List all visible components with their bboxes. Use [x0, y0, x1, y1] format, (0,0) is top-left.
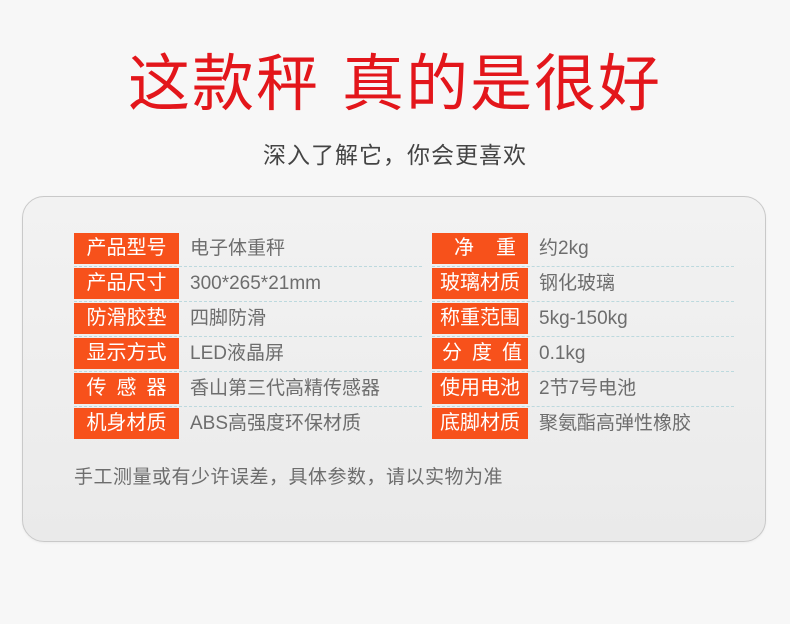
spec-label-net-weight: 净重 — [432, 233, 528, 264]
spec-value-body-material: ABS高强度环保材质 — [179, 408, 432, 439]
spec-label-body-material: 机身材质 — [74, 408, 179, 439]
title-phrase-1: 这款秤 — [128, 50, 320, 119]
spec-value-graduation: 0.1kg — [528, 338, 744, 369]
spec-label-sensor: 传感器 — [74, 373, 179, 404]
spec-label-antislip-pad: 防滑胶垫 — [74, 303, 179, 334]
spec-label-product-size: 产品尺寸 — [74, 268, 179, 299]
spec-label-graduation: 分度值 — [432, 338, 528, 369]
spec-value-foot-material: 聚氨酯高弹性橡胶 — [528, 408, 744, 439]
specification-column-right: 净重 约2kg 玻璃材质 钢化玻璃 称重范围 5kg-150kg 分度值 0.1… — [432, 233, 744, 443]
spec-value-glass-material: 钢化玻璃 — [528, 268, 744, 299]
spec-value-weighing-range: 5kg-150kg — [528, 303, 744, 334]
spec-label-product-model: 产品型号 — [74, 233, 179, 264]
page-title: 这款秤真的是很好 — [0, 54, 790, 116]
spec-value-battery: 2节7号电池 — [528, 373, 744, 404]
specification-table: 产品型号 电子体重秤 产品尺寸 300*265*21mm 防滑胶垫 四脚防滑 显… — [23, 197, 765, 443]
spec-value-net-weight: 约2kg — [528, 233, 744, 264]
table-row: 传感器 香山第三代高精传感器 — [74, 373, 432, 404]
table-row: 防滑胶垫 四脚防滑 — [74, 303, 432, 334]
table-row: 底脚材质 聚氨酯高弹性橡胶 — [432, 408, 744, 439]
page-subtitle: 深入了解它，你会更喜欢 — [0, 136, 790, 170]
table-row: 产品尺寸 300*265*21mm — [74, 268, 432, 299]
spec-value-product-size: 300*265*21mm — [179, 268, 432, 299]
table-row: 玻璃材质 钢化玻璃 — [432, 268, 744, 299]
table-row: 机身材质 ABS高强度环保材质 — [74, 408, 432, 439]
spec-value-product-model: 电子体重秤 — [179, 233, 432, 264]
title-phrase-2: 真的是很好 — [342, 50, 662, 119]
spec-label-display-type: 显示方式 — [74, 338, 179, 369]
table-row: 分度值 0.1kg — [432, 338, 744, 369]
spec-value-antislip-pad: 四脚防滑 — [179, 303, 432, 334]
specification-card: 产品型号 电子体重秤 产品尺寸 300*265*21mm 防滑胶垫 四脚防滑 显… — [22, 196, 766, 542]
spec-value-display-type: LED液晶屏 — [179, 338, 432, 369]
measurement-disclaimer: 手工测量或有少许误差，具体参数，请以实物为准 — [74, 462, 503, 489]
page-header: 这款秤真的是很好 深入了解它，你会更喜欢 — [0, 0, 790, 170]
table-row: 产品型号 电子体重秤 — [74, 233, 432, 264]
table-row: 净重 约2kg — [432, 233, 744, 264]
spec-value-sensor: 香山第三代高精传感器 — [179, 373, 432, 404]
table-row: 使用电池 2节7号电池 — [432, 373, 744, 404]
table-row: 显示方式 LED液晶屏 — [74, 338, 432, 369]
table-row: 称重范围 5kg-150kg — [432, 303, 744, 334]
spec-label-battery: 使用电池 — [432, 373, 528, 404]
specification-column-left: 产品型号 电子体重秤 产品尺寸 300*265*21mm 防滑胶垫 四脚防滑 显… — [74, 233, 432, 443]
spec-label-foot-material: 底脚材质 — [432, 408, 528, 439]
specification-columns: 产品型号 电子体重秤 产品尺寸 300*265*21mm 防滑胶垫 四脚防滑 显… — [23, 233, 765, 443]
spec-label-glass-material: 玻璃材质 — [432, 268, 528, 299]
spec-label-weighing-range: 称重范围 — [432, 303, 528, 334]
